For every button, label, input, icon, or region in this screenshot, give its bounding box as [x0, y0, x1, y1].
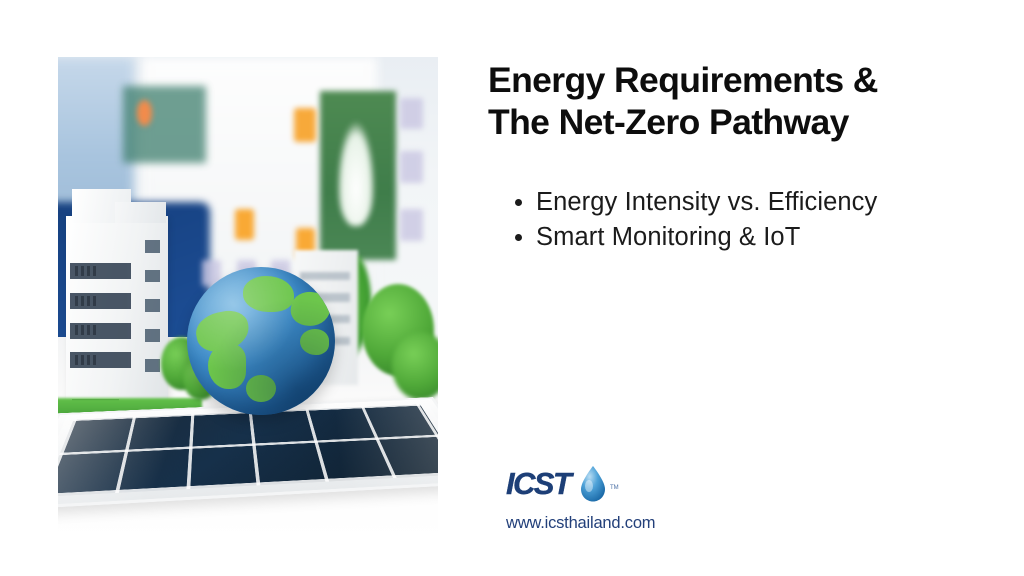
sticky-note-lavender-1 [400, 98, 423, 129]
sticky-note-orange-mid [235, 209, 255, 240]
water-droplet-icon [578, 465, 608, 503]
building-window-band [70, 352, 132, 368]
list-item: Smart Monitoring & IoT [536, 221, 976, 254]
bullet-text: Smart Monitoring & IoT [536, 223, 800, 251]
building-window-band [70, 293, 132, 309]
poster-lightbulb-shape [337, 120, 375, 226]
logo-wordmark: ICST [506, 466, 570, 502]
bullet-text: Energy Intensity vs. Efficiency [536, 188, 877, 216]
building-window-column [145, 299, 160, 312]
slide-root: Energy Requirements &The Net-Zero Pathwa… [0, 0, 1024, 576]
building-roof-block-2 [115, 202, 166, 223]
website-url: www.icsthailand.com [506, 514, 766, 533]
sticky-note-orange-round [137, 100, 152, 125]
brand-logo-block: ICST TM [506, 463, 766, 533]
building-window-column [145, 329, 160, 342]
blurred-green-card [123, 86, 207, 163]
building-window-column [145, 270, 160, 283]
building-window-column [145, 359, 160, 372]
model-bush-small [392, 332, 438, 400]
page-title: Energy Requirements &The Net-Zero Pathwa… [488, 60, 958, 144]
bullet-list: Energy Intensity vs. Efficiency Smart Mo… [514, 186, 976, 256]
content-column: Energy Requirements &The Net-Zero Pathwa… [486, 0, 986, 576]
logo-mark: ICST TM [506, 463, 626, 507]
sticky-note-orange-top [294, 108, 317, 143]
trademark-mark: TM [610, 485, 619, 491]
page-title-line-2: The Net-Zero Pathway [488, 102, 849, 142]
list-item: Energy Intensity vs. Efficiency [536, 186, 976, 219]
hero-photo [58, 57, 438, 540]
globe-shading [187, 267, 335, 415]
felt-globe [187, 267, 335, 415]
sticky-note-lavender-3 [400, 209, 423, 240]
page-title-line-1: Energy Requirements & [488, 60, 878, 100]
building-window-band [70, 263, 132, 279]
building-window-column [145, 240, 160, 253]
sticky-note-lavender-2 [400, 151, 423, 182]
photo-composition [58, 57, 438, 540]
building-window-band [70, 323, 132, 339]
